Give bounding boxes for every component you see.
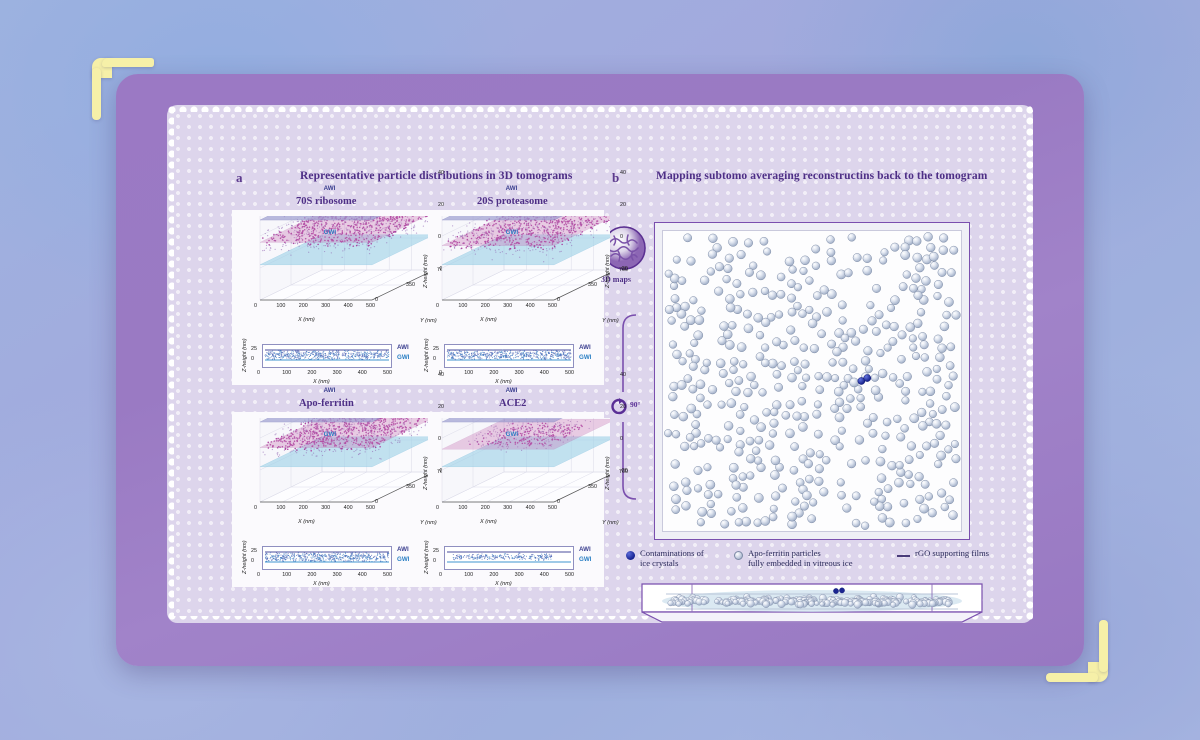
z-axis-label-2d: Z-height (nm) [242, 338, 248, 372]
z-tick-2d: 25 [433, 346, 439, 352]
x-tick: 500 [548, 505, 557, 511]
x-tick: 0 [436, 505, 439, 511]
apoferritin-sphere-icon [734, 551, 743, 560]
z-tick: 40 [620, 372, 626, 378]
panel-a-title: Representative particle distributions in… [300, 170, 572, 182]
gwi-label-3d: GWI [324, 431, 336, 438]
tomogram-field[interactable] [662, 230, 962, 532]
y-tick: 350 [588, 282, 597, 288]
x-tick: 500 [366, 505, 375, 511]
z-tick-2d: 0 [433, 356, 436, 362]
awi-label-3d: AWI [324, 387, 336, 394]
y-tick: 0 [557, 499, 560, 505]
tomogram-frame [654, 222, 970, 540]
x-tick: 200 [299, 505, 308, 511]
plot2d-box [262, 344, 392, 368]
x-tick-2d: 400 [540, 370, 549, 376]
legend-rgo-text: rGO supporting films [915, 549, 989, 559]
z-tick: 0 [620, 234, 623, 240]
x-tick: 400 [526, 505, 535, 511]
x-axis-label-2d: X (nm) [495, 379, 512, 385]
gwi-label-3d: GWI [506, 431, 518, 438]
plot3d-70s-ribosome: 01002003004005000350700-2002040X (nm)Y (… [240, 216, 428, 334]
x-tick: 500 [548, 303, 557, 309]
x-tick-2d: 100 [464, 572, 473, 578]
x-tick: 200 [481, 505, 490, 511]
plot2d-canvas [263, 345, 391, 367]
x-axis-label: X (nm) [298, 317, 315, 323]
plot2d-20s-proteasome: 2500100200300400500X (nm)Z-height (nm)AW… [422, 340, 610, 386]
plot3d-20s-proteasome: 01002003004005000350700-2002040X (nm)Y (… [422, 216, 610, 334]
awi-label-2d: AWI [579, 344, 591, 351]
z-tick: -20 [620, 266, 628, 272]
plot2d-canvas [445, 345, 573, 367]
figure-panel: a Representative particle distributions … [174, 112, 1026, 616]
awi-label-3d: AWI [324, 185, 336, 192]
x-tick: 400 [344, 303, 353, 309]
z-tick: 20 [438, 202, 444, 208]
specimen-label-apoferritin: Apo-ferritin [299, 398, 354, 409]
x-tick: 300 [321, 303, 330, 309]
x-tick-2d: 500 [383, 370, 392, 376]
x-axis-label: X (nm) [480, 317, 497, 323]
z-tick: -20 [620, 468, 628, 474]
x-tick: 0 [254, 303, 257, 309]
y-tick: 0 [557, 297, 560, 303]
rgo-dash-icon [897, 555, 910, 557]
x-tick-2d: 200 [489, 370, 498, 376]
awi-label-3d: AWI [506, 387, 518, 394]
x-tick: 300 [503, 303, 512, 309]
x-axis-label-2d: X (nm) [495, 581, 512, 587]
x-tick-2d: 400 [540, 572, 549, 578]
x-tick: 0 [254, 505, 257, 511]
specimen-label-proteasome: 20S proteasome [477, 196, 548, 207]
x-axis-label: X (nm) [298, 519, 315, 525]
x-tick-2d: 400 [358, 370, 367, 376]
gwi-label-2d: GWI [397, 556, 409, 563]
specimen-label-ribosome: 70S ribosome [296, 196, 356, 207]
x-tick: 100 [276, 505, 285, 511]
awi-label-2d: AWI [579, 546, 591, 553]
corner-bracket-top-left [92, 58, 154, 120]
legend-item-apoferritin: Apo-ferritin particles fully embedded in… [734, 549, 853, 569]
z-axis-label: Z-height (nm) [605, 456, 611, 490]
y-axis-label: Y (nm) [602, 318, 619, 324]
z-tick: 20 [620, 202, 626, 208]
y-tick: 0 [375, 297, 378, 303]
panel-b-title: Mapping subtomo averaging reconstructins… [656, 170, 987, 182]
x-tick-2d: 0 [257, 370, 260, 376]
legend-apoferritin-text: Apo-ferritin particles fully embedded in… [748, 549, 853, 569]
gwi-label-3d: GWI [324, 229, 336, 236]
z-tick: 40 [438, 372, 444, 378]
y-tick: 350 [588, 484, 597, 490]
x-tick: 200 [299, 303, 308, 309]
z-tick-2d: 25 [433, 548, 439, 554]
x-tick-2d: 0 [257, 572, 260, 578]
gwi-label-2d: GWI [579, 354, 591, 361]
x-tick: 500 [366, 303, 375, 309]
panel-a-letter: a [236, 170, 243, 186]
plot3d-apo-ferritin: 01002003004005000350700-2002040X (nm)Y (… [240, 418, 428, 536]
ice-layer-cross-section [640, 578, 984, 626]
awi-label-2d: AWI [397, 546, 409, 553]
tomogram-particles [663, 231, 961, 531]
awi-label-3d: AWI [506, 185, 518, 192]
x-tick: 300 [321, 505, 330, 511]
plot2d-canvas [445, 547, 573, 569]
x-axis-label-2d: X (nm) [313, 379, 330, 385]
y-tick: 350 [406, 484, 415, 490]
z-tick-2d: 25 [251, 548, 257, 554]
z-tick: 20 [620, 404, 626, 410]
gwi-label-2d: GWI [397, 354, 409, 361]
plot2d-canvas [263, 547, 391, 569]
x-tick: 0 [436, 303, 439, 309]
panel-b-letter: b [612, 170, 619, 186]
corner-bracket-bottom-right [1046, 620, 1108, 682]
x-tick-2d: 500 [565, 370, 574, 376]
x-tick-2d: 200 [307, 572, 316, 578]
z-tick: 40 [438, 170, 444, 176]
y-tick: 0 [375, 499, 378, 505]
plot2d-apo-ferritin: 2500100200300400500X (nm)Z-height (nm)AW… [240, 542, 428, 588]
legend-contamination-text: Contaminations of ice crystals [640, 549, 704, 569]
x-tick-2d: 0 [439, 572, 442, 578]
plot2d-box [444, 344, 574, 368]
plot2d-box [262, 546, 392, 570]
plot2d-70s-ribosome: 2500100200300400500X (nm)Z-height (nm)AW… [240, 340, 428, 386]
x-tick: 100 [276, 303, 285, 309]
x-tick-2d: 200 [307, 370, 316, 376]
plot3d-ace2: 01002003004005000350700-2002040X (nm)Y (… [422, 418, 610, 536]
x-tick: 400 [526, 303, 535, 309]
gwi-label-3d: GWI [506, 229, 518, 236]
z-tick-2d: 0 [433, 558, 436, 564]
specimen-label-ace2: ACE2 [499, 398, 526, 409]
awi-label-2d: AWI [397, 344, 409, 351]
rotation-angle-label: 90° [630, 400, 641, 409]
z-tick: 0 [620, 436, 623, 442]
legend-item-contamination: Contaminations of ice crystals [626, 549, 704, 569]
x-tick-2d: 300 [515, 572, 524, 578]
x-tick-2d: 100 [464, 370, 473, 376]
x-axis-label: X (nm) [480, 519, 497, 525]
contamination-dot-icon [626, 551, 635, 560]
z-tick-2d: 0 [251, 356, 254, 362]
y-axis-label: Y (nm) [602, 520, 619, 526]
x-tick-2d: 400 [358, 572, 367, 578]
x-tick-2d: 100 [282, 370, 291, 376]
x-tick-2d: 300 [515, 370, 524, 376]
plot2d-box [444, 546, 574, 570]
x-tick-2d: 300 [333, 572, 342, 578]
x-tick: 100 [458, 505, 467, 511]
x-tick: 200 [481, 303, 490, 309]
x-tick-2d: 500 [565, 572, 574, 578]
legend-item-rgo: rGO supporting films [897, 549, 989, 559]
x-tick: 300 [503, 505, 512, 511]
z-axis-label-2d: Z-height (nm) [242, 540, 248, 574]
x-tick-2d: 300 [333, 370, 342, 376]
z-tick-2d: 25 [251, 346, 257, 352]
plot2d-ace2: 2500100200300400500X (nm)Z-height (nm)AW… [422, 542, 610, 588]
x-tick-2d: 500 [383, 572, 392, 578]
x-tick: 400 [344, 505, 353, 511]
gwi-label-2d: GWI [579, 556, 591, 563]
x-tick: 100 [458, 303, 467, 309]
z-tick: 40 [620, 170, 626, 176]
z-axis-label: Z-height (nm) [605, 254, 611, 288]
z-axis-label-2d: Z-height (nm) [424, 540, 430, 574]
x-axis-label-2d: X (nm) [313, 581, 330, 587]
z-axis-label-2d: Z-height (nm) [424, 338, 430, 372]
z-tick-2d: 0 [251, 558, 254, 564]
y-tick: 350 [406, 282, 415, 288]
x-tick-2d: 200 [489, 572, 498, 578]
z-tick: 20 [438, 404, 444, 410]
x-tick-2d: 100 [282, 572, 291, 578]
